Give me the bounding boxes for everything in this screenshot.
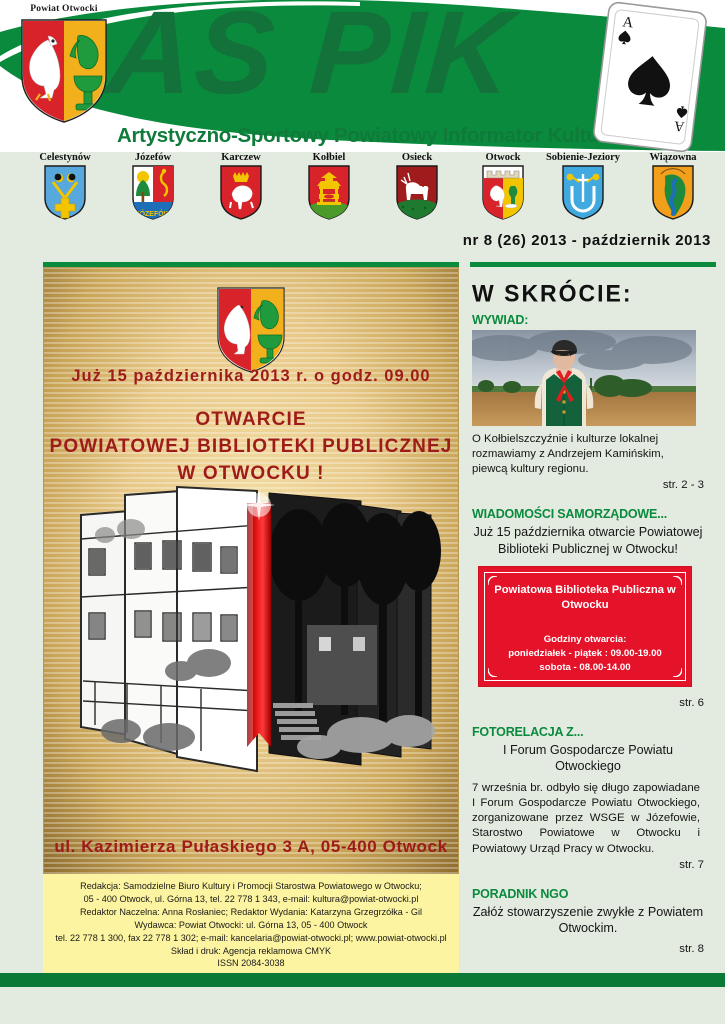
gmina-label: Sobienie-Jeziory	[540, 152, 626, 163]
gmina-label: Karczew	[198, 152, 284, 163]
sign-hours-label: Godziny otwarcia:	[479, 633, 691, 647]
bottom-green-bar	[0, 973, 725, 987]
page-title: AS PIK	[104, 0, 518, 112]
kolbiel-crest-icon	[307, 164, 351, 220]
poster-headline-line2: POWIATOWEJ BIBLIOTEKI PUBLICZNEJ	[43, 434, 459, 461]
tagline: Artystyczno-Sportowy Powiatowy Informato…	[117, 124, 646, 148]
wiadomosci-page-ref: str. 6	[472, 697, 704, 709]
celestynow-crest-icon	[43, 164, 87, 220]
gmina-otwock: Otwock	[460, 152, 546, 220]
jozefow-crest-icon: JÓZEFÓW	[131, 164, 175, 220]
osieck-crest-icon	[395, 164, 439, 220]
library-building-collage-image	[61, 485, 443, 785]
fotorelacja-page-ref: str. 7	[472, 859, 704, 871]
wywiad-page-ref: str. 2 - 3	[472, 479, 704, 491]
poster-address: ul. Kazimierza Pułaskiego 3 A, 05-400 Ot…	[43, 837, 459, 857]
svg-text:A: A	[621, 14, 634, 31]
ace-of-spades-icon: A A	[589, 0, 710, 152]
wywiad-body: O Kołbielszczyźnie i kulturze lokalnej r…	[472, 432, 700, 477]
poradnik-lead: Załóż stowarzyszenie zwykłe z Powiatem O…	[472, 904, 704, 937]
imprint-issn: ISSN 2084-3038	[43, 957, 459, 970]
fotorelacja-body: 7 września br. odbyło się długo zapowiad…	[472, 781, 700, 857]
sign-hours-saturday: sobota - 08.00-14.00	[479, 661, 691, 675]
gmina-wiazowna: Wiązowna	[630, 152, 716, 220]
gmina-sobienie-jeziory: Sobienie-Jeziory	[540, 152, 626, 220]
fotorelacja-lead: I Forum Gospodarcze Powiatu Otwockiego	[472, 742, 704, 775]
gmina-celestynow: Celestynów	[22, 152, 108, 220]
gmina-osieck: Osieck	[374, 152, 460, 220]
gmina-jozefow: Józefów JÓZEFÓW	[110, 152, 196, 220]
sign-title: Powiatowa Biblioteka Publiczna w Otwocku	[479, 583, 691, 613]
library-sign-box: Powiatowa Biblioteka Publiczna w Otwocku…	[478, 566, 692, 687]
imprint-line-2: 05 - 400 Otwock, ul. Górna 13, tel. 22 7…	[43, 893, 459, 906]
sobienie-jeziory-crest-icon	[561, 164, 605, 220]
gmina-label: Józefów	[110, 152, 196, 163]
imprint-line-6: Skład i druk: Agencja reklamowa CMYK	[43, 945, 459, 958]
imprint-line-3: Redaktor Naczelna: Anna Rosłaniec; Redak…	[43, 906, 459, 919]
masthead: Powiat Otwocki	[0, 0, 725, 152]
gmina-label: Kołbiel	[286, 152, 372, 163]
gmina-label: Wiązowna	[630, 152, 716, 163]
powiat-otwocki-coat-of-arms	[18, 6, 110, 124]
in-brief-sidebar: W SKRÓCIE: WYWIAD:	[470, 262, 716, 955]
poster-headline-line3: W OTWOCKU !	[43, 461, 459, 488]
imprint-line-4: Wydawca: Powiat Otwocki: ul. Górna 13, 0…	[43, 919, 459, 932]
section-heading-wywiad: WYWIAD:	[472, 313, 716, 327]
gmina-label: Otwock	[460, 152, 546, 163]
wiazowna-crest-icon	[651, 164, 695, 220]
poster-powiat-crest-icon	[215, 285, 287, 375]
imprint-line-1: Redakcja: Samodzielne Biuro Kultury i Pr…	[43, 880, 459, 893]
section-heading-fotorelacja: FOTORELACJA Z...	[472, 725, 716, 739]
sign-hours: Godziny otwarcia: poniedziałek - piątek …	[479, 633, 691, 675]
folk-costume-man-photo	[472, 330, 696, 426]
library-opening-poster: Już 15 października 2013 r. o godz. 09.0…	[43, 262, 459, 879]
otwock-crest-icon	[481, 164, 525, 220]
karczew-crest-icon	[219, 164, 263, 220]
gmina-label: Celestynów	[22, 152, 108, 163]
section-heading-wiadomosci: WIADOMOŚCI SAMORZĄDOWE...	[472, 507, 716, 521]
imprint-line-5: tel. 22 778 1 300, fax 22 778 1 302; e-m…	[43, 932, 459, 945]
gmina-label: Osieck	[374, 152, 460, 163]
issue-number: nr 8 (26) 2013 - październik 2013	[463, 232, 711, 249]
wiadomosci-lead: Już 15 października otwarcie Powiatowej …	[472, 524, 704, 557]
sidebar-title: W SKRÓCIE:	[472, 279, 716, 308]
gmina-kolbiel: Kołbiel	[286, 152, 372, 220]
municipal-coats-of-arms-row: Celestynów Józefów	[0, 152, 725, 230]
sign-hours-weekday: poniedziałek - piątek : 09.00-19.00	[479, 647, 691, 661]
newspaper-front-page: Powiat Otwocki	[0, 0, 725, 1024]
section-heading-poradnik-ngo: PORADNIK NGO	[472, 887, 716, 901]
poster-headline-line1: OTWARCIE	[43, 407, 459, 434]
poster-date-line: Już 15 października 2013 r. o godz. 09.0…	[43, 367, 459, 386]
imprint-box: Redakcja: Samodzielne Biuro Kultury i Pr…	[43, 874, 459, 973]
poradnik-page-ref: str. 8	[472, 943, 704, 955]
gmina-karczew: Karczew	[198, 152, 284, 220]
poster-headline: OTWARCIE POWIATOWEJ BIBLIOTEKI PUBLICZNE…	[43, 407, 459, 488]
